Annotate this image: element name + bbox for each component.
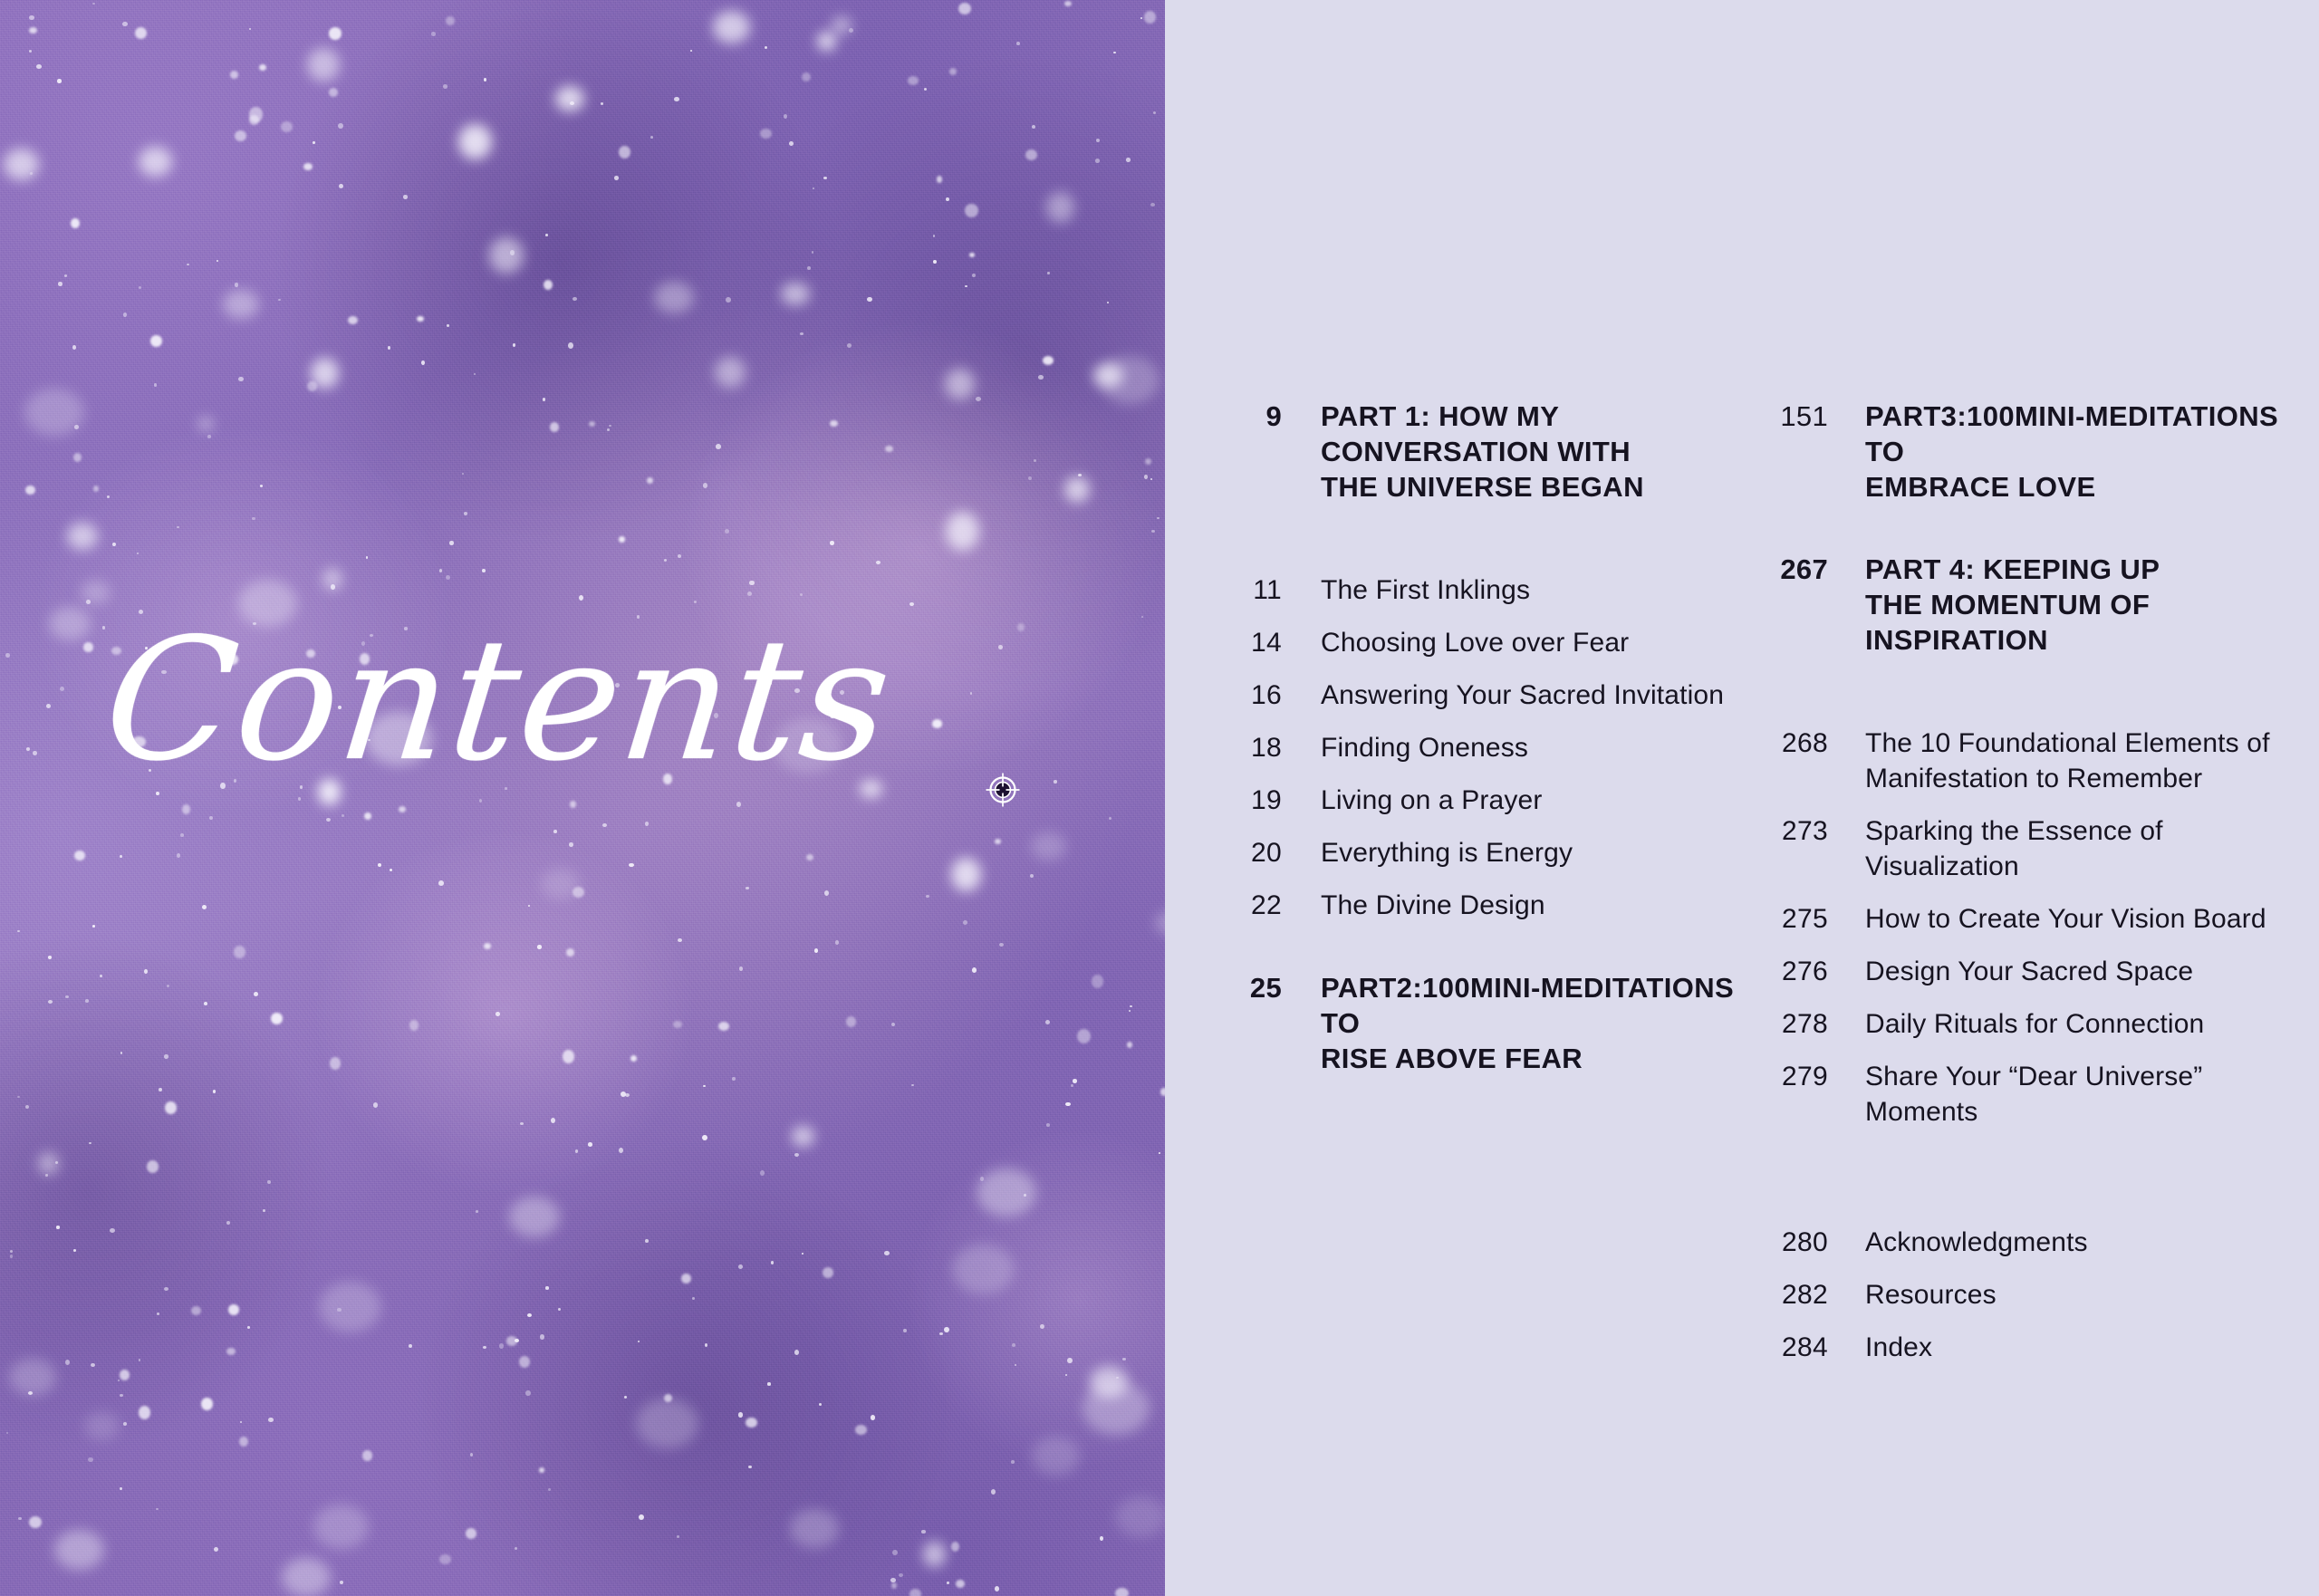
toc-page-number: 22 (1227, 888, 1282, 923)
toc-part-row[interactable]: 151PART3:100MINI-MEDITATIONS TO EMBRACE … (1757, 399, 2283, 505)
toc-page-number: 11 (1227, 572, 1282, 608)
toc-entry-title: Answering Your Sacred Invitation (1321, 678, 1724, 713)
toc-entry-row[interactable]: 11The First Inklings (1227, 572, 1735, 608)
toc-page-number: 282 (1757, 1277, 1828, 1312)
toc-page-number: 19 (1227, 783, 1282, 818)
toc-spacer (1757, 1130, 2283, 1207)
toc-page-number: 284 (1757, 1330, 1828, 1365)
toc-entry-row[interactable]: 279Share Your “Dear Universe” Moments (1757, 1059, 2283, 1130)
celestial-compass-emblem-icon (984, 771, 1022, 809)
toc-page-number: 9 (1227, 399, 1282, 434)
toc-entry-title: Acknowledgments (1865, 1225, 2088, 1260)
toc-entry-title: Daily Rituals for Connection (1865, 1006, 2204, 1042)
toc-page-number: 14 (1227, 625, 1282, 660)
toc-column-left: 9PART 1: HOW MY CONVERSATION WITH THE UN… (1227, 399, 1735, 1076)
toc-page-number: 25 (1227, 970, 1282, 1005)
toc-part-title: PART3:100MINI-MEDITATIONS TO EMBRACE LOV… (1865, 399, 2278, 505)
toc-entry-row[interactable]: 20Everything is Energy (1227, 835, 1735, 870)
cover-panel: Contents (0, 0, 1165, 1596)
toc-entry-title: Design Your Sacred Space (1865, 954, 2193, 989)
toc-entry-row[interactable]: 278Daily Rituals for Connection (1757, 1006, 2283, 1042)
toc-entry-row[interactable]: 273Sparking the Essence of Visualization (1757, 813, 2283, 884)
toc-spacer (1227, 505, 1735, 555)
toc-spacer (1757, 658, 2283, 708)
toc-entry-row[interactable]: 19Living on a Prayer (1227, 783, 1735, 818)
toc-entry-title: Share Your “Dear Universe” Moments (1865, 1059, 2202, 1130)
toc-part-title: PART 1: HOW MY CONVERSATION WITH THE UNI… (1321, 399, 1644, 505)
toc-page-number: 273 (1757, 813, 1828, 849)
toc-entry-title: Sparking the Essence of Visualization (1865, 813, 2163, 884)
toc-page-number: 268 (1757, 726, 1828, 761)
book-contents-spread: Contents 9PART 1: HOW MY CONVERSATION WI… (0, 0, 2319, 1596)
toc-entry-title: The 10 Foundational Elements of Manifest… (1865, 726, 2270, 796)
toc-entry-title: Finding Oneness (1321, 730, 1528, 765)
toc-page-number: 278 (1757, 1006, 1828, 1042)
toc-spacer (1227, 923, 1735, 970)
toc-entry-row[interactable]: 22The Divine Design (1227, 888, 1735, 923)
toc-entry-title: Choosing Love over Fear (1321, 625, 1629, 660)
toc-entry-row[interactable]: 16Answering Your Sacred Invitation (1227, 678, 1735, 713)
toc-entry-row[interactable]: 275How to Create Your Vision Board (1757, 901, 2283, 937)
toc-page-number: 280 (1757, 1225, 1828, 1260)
toc-page-number: 16 (1227, 678, 1282, 713)
toc-page-number: 267 (1757, 552, 1828, 587)
toc-entry-row[interactable]: 14Choosing Love over Fear (1227, 625, 1735, 660)
toc-entry-title: How to Create Your Vision Board (1865, 901, 2266, 937)
toc-entry-title: The Divine Design (1321, 888, 1545, 923)
toc-part-row[interactable]: 9PART 1: HOW MY CONVERSATION WITH THE UN… (1227, 399, 1735, 505)
toc-entry-row[interactable]: 268The 10 Foundational Elements of Manif… (1757, 726, 2283, 796)
toc-part-title: PART2:100MINI-MEDITATIONS TO RISE ABOVE … (1321, 970, 1734, 1076)
toc-entry-title: The First Inklings (1321, 572, 1530, 608)
toc-page-number: 20 (1227, 835, 1282, 870)
toc-page-number: 279 (1757, 1059, 1828, 1094)
toc-spacer (1757, 505, 2283, 552)
toc-entry-title: Resources (1865, 1277, 1997, 1312)
toc-page-number: 18 (1227, 730, 1282, 765)
toc-part-row[interactable]: 25PART2:100MINI-MEDITATIONS TO RISE ABOV… (1227, 970, 1735, 1076)
toc-entry-title: Index (1865, 1330, 1932, 1365)
toc-entry-row[interactable]: 280Acknowledgments (1757, 1225, 2283, 1260)
toc-entry-row[interactable]: 284Index (1757, 1330, 2283, 1365)
toc-entry-title: Everything is Energy (1321, 835, 1573, 870)
toc-entry-title: Living on a Prayer (1321, 783, 1543, 818)
toc-page-number: 151 (1757, 399, 1828, 434)
toc-entry-row[interactable]: 282Resources (1757, 1277, 2283, 1312)
toc-part-title: PART 4: KEEPING UP THE MOMENTUM OF INSPI… (1865, 552, 2160, 658)
toc-page-number: 275 (1757, 901, 1828, 937)
toc-entry-row[interactable]: 276Design Your Sacred Space (1757, 954, 2283, 989)
toc-entry-row[interactable]: 18Finding Oneness (1227, 730, 1735, 765)
table-of-contents: 9PART 1: HOW MY CONVERSATION WITH THE UN… (1165, 0, 2319, 1596)
toc-column-right: 151PART3:100MINI-MEDITATIONS TO EMBRACE … (1757, 399, 2283, 1365)
toc-page-number: 276 (1757, 954, 1828, 989)
toc-part-row[interactable]: 267PART 4: KEEPING UP THE MOMENTUM OF IN… (1757, 552, 2283, 658)
page-title: Contents (98, 616, 899, 784)
